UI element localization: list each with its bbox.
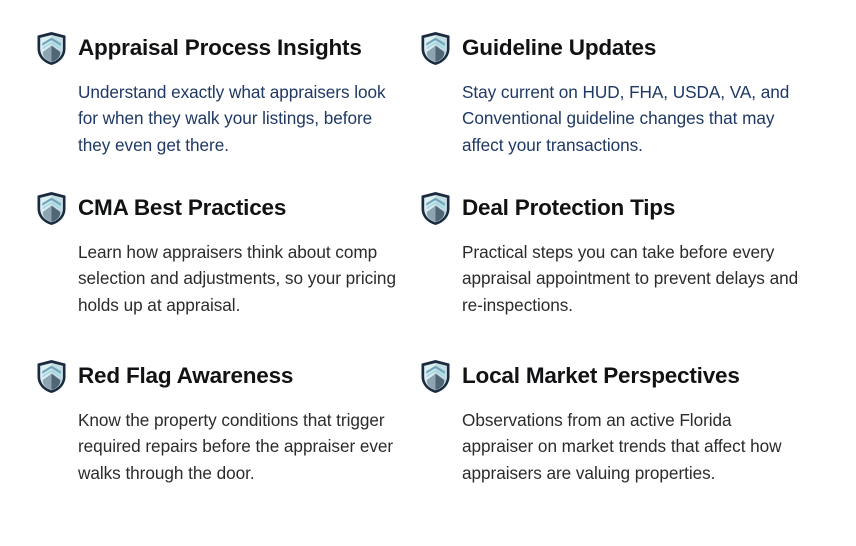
shield-mountain-icon [36, 31, 67, 66]
feature-card-local-market-perspectives: Local Market Perspectives Observations f… [412, 358, 856, 540]
card-title: Deal Protection Tips [462, 196, 675, 221]
feature-card-cma-best-practices: CMA Best Practices Learn how appraisers … [0, 190, 412, 358]
card-header: Deal Protection Tips [420, 190, 856, 226]
shield-mountain-icon [420, 359, 451, 394]
card-header: CMA Best Practices [36, 190, 412, 226]
shield-mountain-icon [420, 31, 451, 66]
card-header: Red Flag Awareness [36, 358, 412, 394]
card-body: Stay current on HUD, FHA, USDA, VA, and … [420, 79, 807, 158]
card-title: Guideline Updates [462, 36, 656, 61]
shield-mountain-icon [36, 359, 67, 394]
card-body: Learn how appraisers think about comp se… [36, 239, 408, 318]
feature-card-deal-protection-tips: Deal Protection Tips Practical steps you… [412, 190, 856, 358]
card-header: Local Market Perspectives [420, 358, 856, 394]
card-title: CMA Best Practices [78, 196, 286, 221]
card-header: Appraisal Process Insights [36, 30, 412, 66]
card-header: Guideline Updates [420, 30, 856, 66]
card-title: Local Market Perspectives [462, 364, 740, 389]
card-body: Practical steps you can take before ever… [420, 239, 807, 318]
card-body: Observations from an active Florida appr… [420, 407, 807, 486]
feature-card-red-flag-awareness: Red Flag Awareness Know the property con… [0, 358, 412, 540]
card-body: Understand exactly what appraisers look … [36, 79, 408, 158]
feature-grid: Appraisal Process Insights Understand ex… [0, 0, 856, 546]
shield-mountain-icon [420, 191, 451, 226]
card-title: Red Flag Awareness [78, 364, 293, 389]
feature-card-appraisal-process-insights: Appraisal Process Insights Understand ex… [0, 30, 412, 190]
shield-mountain-icon [36, 191, 67, 226]
card-body: Know the property conditions that trigge… [36, 407, 408, 486]
card-title: Appraisal Process Insights [78, 36, 362, 61]
feature-card-guideline-updates: Guideline Updates Stay current on HUD, F… [412, 30, 856, 190]
